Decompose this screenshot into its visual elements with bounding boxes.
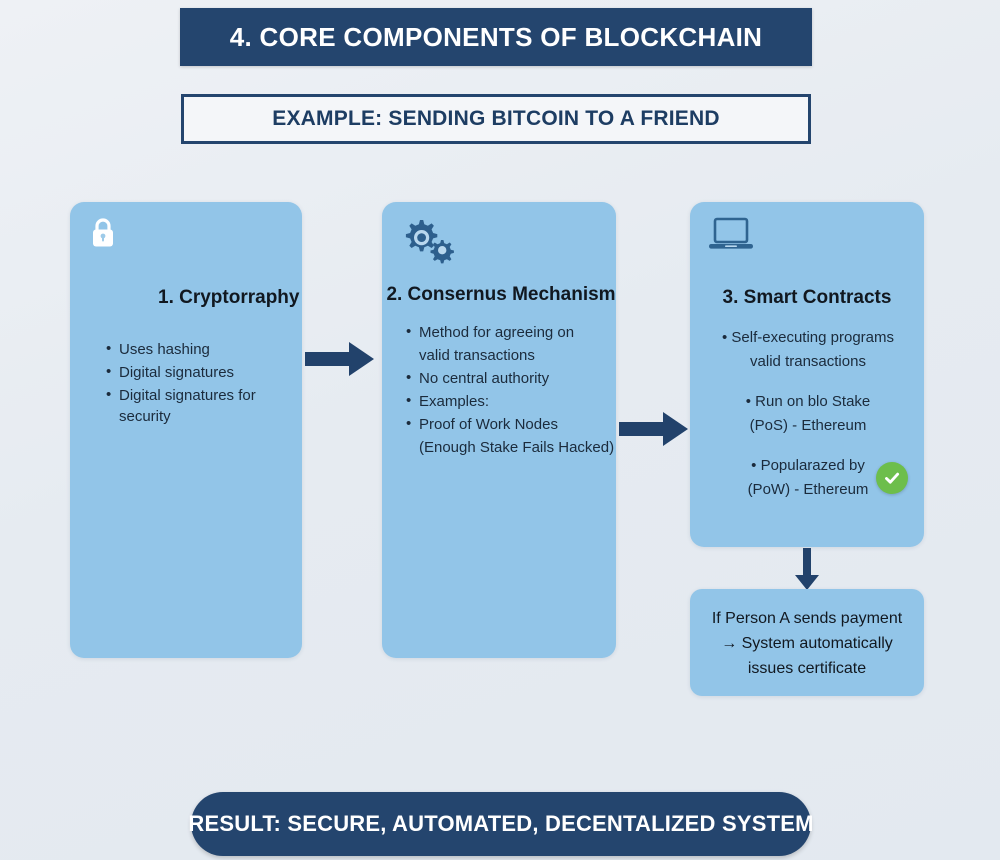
- card-cryptography[interactable]: 1. Cryptorraphy Uses hashing Digital sig…: [70, 202, 302, 658]
- card-smart-contracts[interactable]: 3. Smart Contracts • Self-executing prog…: [690, 202, 924, 547]
- result-banner: RESULT: SECURE, AUTOMATED, DECENTALIZED …: [191, 792, 811, 856]
- card-title: 1. Cryptorraphy: [158, 287, 302, 309]
- arrow-card1-to-card2-icon: [303, 338, 377, 385]
- gears-icon: [400, 216, 454, 269]
- outcome-box: If Person A sends payment → System autom…: [690, 589, 924, 696]
- list-item: valid transactions: [702, 351, 914, 373]
- list-item: (PoS) - Ethereum: [702, 415, 914, 437]
- infographic-canvas: 4. CORE COMPONENTS OF BLOCKCHAIN EXAMPLE…: [0, 0, 1000, 860]
- list-item: • Run on blo Stake: [702, 391, 914, 413]
- list-item: Uses hashing: [106, 339, 306, 360]
- outcome-line: If Person A sends payment: [700, 606, 914, 631]
- example-banner: EXAMPLE: SENDING BITCOIN TO A FRIEND: [181, 94, 811, 144]
- list-spacer: [702, 375, 914, 389]
- card-bullet-list: Method for agreeing on valid transaction…: [406, 322, 621, 460]
- card-title: 2. Consernus Mechanism: [386, 284, 616, 306]
- list-item: Proof of Work Nodes: [406, 414, 621, 435]
- result-label: RESULT: SECURE, AUTOMATED, DECENTALIZED …: [188, 811, 813, 837]
- lock-icon: [88, 216, 118, 255]
- card-title: 3. Smart Contracts: [690, 287, 924, 309]
- arrow-card2-to-card3-icon: [617, 408, 691, 455]
- outcome-line: issues certificate: [700, 656, 914, 681]
- list-item: • Self-executing programs: [702, 327, 914, 349]
- list-item: No central authority: [406, 368, 621, 389]
- list-item: Examples:: [406, 391, 621, 412]
- laptop-icon: [708, 216, 754, 259]
- list-item: (Enough Stake Fails Hacked): [406, 437, 621, 458]
- list-item: valid transactions: [406, 345, 621, 366]
- card-bullet-list: Uses hashing Digital signatures Digital …: [106, 339, 306, 429]
- outcome-line: → System automatically: [700, 631, 914, 656]
- check-badge: [876, 462, 908, 494]
- page-title: 4. CORE COMPONENTS OF BLOCKCHAIN: [230, 22, 763, 53]
- card-consensus-mechanism[interactable]: 2. Consernus Mechanism Method for agreei…: [382, 202, 616, 658]
- example-label: EXAMPLE: SENDING BITCOIN TO A FRIEND: [272, 107, 719, 131]
- outcome-text: If Person A sends payment → System autom…: [700, 606, 914, 681]
- list-item: Method for agreeing on: [406, 322, 621, 343]
- list-item: Digital signatures for security: [106, 385, 306, 427]
- title-banner: 4. CORE COMPONENTS OF BLOCKCHAIN: [180, 8, 812, 66]
- list-item: Digital signatures: [106, 362, 306, 383]
- list-spacer: [702, 439, 914, 453]
